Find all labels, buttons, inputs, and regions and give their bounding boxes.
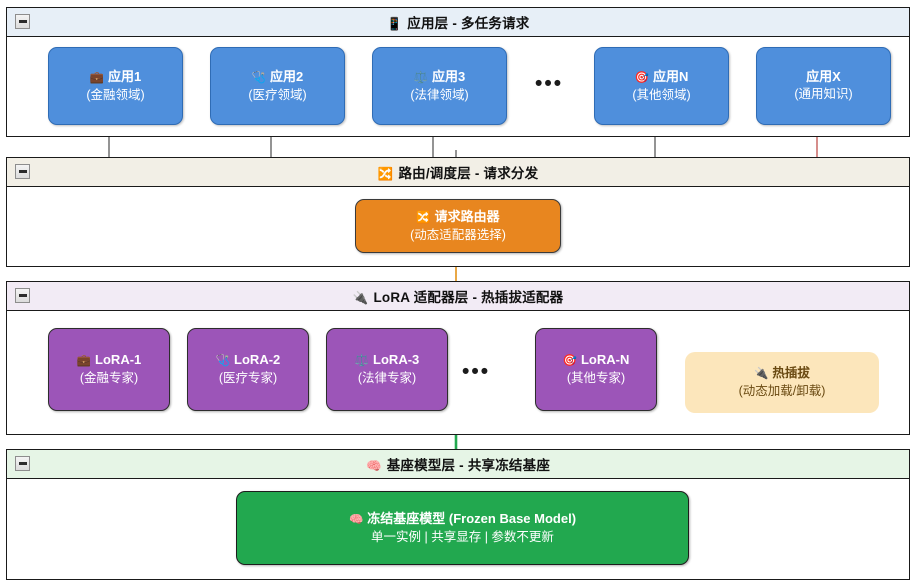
app-node-n-title: 🎯应用N bbox=[635, 68, 689, 87]
hot-plug-note: 🔌热插拔 (动态加载/卸载) bbox=[685, 352, 879, 413]
app-node-1-subtitle: (金融领域) bbox=[86, 87, 144, 104]
app-node-3[interactable]: ⚖️应用3 (法律领域) bbox=[372, 47, 507, 125]
request-router-node[interactable]: 🔀请求路由器 (动态适配器选择) bbox=[355, 199, 561, 253]
app-node-n[interactable]: 🎯应用N (其他领域) bbox=[594, 47, 729, 125]
lora-node-2-title: 🩺LoRA-2 bbox=[216, 351, 281, 370]
lora-node-2-subtitle: (医疗专家) bbox=[219, 370, 277, 387]
shuffle-icon: 🔀 bbox=[416, 212, 430, 224]
layer-application-title: 📱应用层 - 多任务请求 bbox=[387, 12, 530, 32]
frozen-base-model-subtitle: 单一实例 | 共享显存 | 参数不更新 bbox=[371, 529, 554, 546]
layer-lora-header: 🔌LoRA 适配器层 - 热插拔适配器 bbox=[7, 282, 909, 311]
layer-application-body: 💼应用1 (金融领域) 🩺应用2 (医疗领域) ⚖️应用3 (法律领域) ••• bbox=[7, 37, 909, 135]
plug-icon: 🔌 bbox=[353, 291, 369, 305]
hot-plug-note-title: 🔌热插拔 bbox=[754, 365, 810, 383]
collapse-toggle-routing[interactable] bbox=[15, 164, 30, 179]
plug-icon: 🔌 bbox=[754, 368, 768, 380]
lora-node-3-subtitle: (法律专家) bbox=[358, 370, 416, 387]
layer-lora-title: 🔌LoRA 适配器层 - 热插拔适配器 bbox=[353, 286, 564, 306]
lora-node-1-title: 💼LoRA-1 bbox=[77, 351, 142, 370]
app-node-3-subtitle: (法律领域) bbox=[410, 87, 468, 104]
target-icon: 🎯 bbox=[635, 72, 649, 84]
app-node-2-title: 🩺应用2 bbox=[252, 68, 304, 87]
collapse-toggle-application[interactable] bbox=[15, 14, 30, 29]
app-node-1-title: 💼应用1 bbox=[90, 68, 142, 87]
stethoscope-icon: 🩺 bbox=[216, 355, 230, 367]
lora-node-3-title: ⚖️LoRA-3 bbox=[355, 351, 420, 370]
app-node-2-subtitle: (医疗领域) bbox=[248, 87, 306, 104]
layer-routing: 🔀路由/调度层 - 请求分发 🔀请求路由器 (动态适配器选择) bbox=[6, 157, 910, 267]
layer-lora-body: 💼LoRA-1 (金融专家) 🩺LoRA-2 (医疗专家) ⚖️LoRA-3 (… bbox=[7, 311, 909, 433]
layer-base-model-title: 🧠基座模型层 - 共享冻结基座 bbox=[366, 454, 550, 474]
shuffle-icon: 🔀 bbox=[378, 167, 394, 181]
briefcase-icon: 💼 bbox=[77, 355, 91, 367]
lora-layer-ellipsis: ••• bbox=[462, 361, 490, 382]
target-icon: 🎯 bbox=[563, 355, 577, 367]
lora-node-3[interactable]: ⚖️LoRA-3 (法律专家) bbox=[326, 328, 448, 411]
brain-icon: 🧠 bbox=[366, 459, 382, 473]
layer-lora: 🔌LoRA 适配器层 - 热插拔适配器 💼LoRA-1 (金融专家) 🩺LoRA… bbox=[6, 281, 910, 435]
layer-base-model-body: 🧠冻结基座模型 (Frozen Base Model) 单一实例 | 共享显存 … bbox=[7, 479, 909, 578]
lora-node-n-title: 🎯LoRA-N bbox=[563, 351, 630, 370]
frozen-base-model-node[interactable]: 🧠冻结基座模型 (Frozen Base Model) 单一实例 | 共享显存 … bbox=[236, 491, 689, 565]
frozen-base-model-title: 🧠冻结基座模型 (Frozen Base Model) bbox=[349, 510, 576, 529]
app-node-x[interactable]: 应用X (通用知识) bbox=[756, 47, 891, 125]
scales-icon: ⚖️ bbox=[355, 355, 369, 367]
collapse-toggle-lora[interactable] bbox=[15, 288, 30, 303]
stethoscope-icon: 🩺 bbox=[252, 72, 266, 84]
collapse-toggle-base-model[interactable] bbox=[15, 456, 30, 471]
lora-node-n[interactable]: 🎯LoRA-N (其他专家) bbox=[535, 328, 657, 411]
layer-application-header: 📱应用层 - 多任务请求 bbox=[7, 8, 909, 37]
lora-node-1-subtitle: (金融专家) bbox=[80, 370, 138, 387]
lora-node-1[interactable]: 💼LoRA-1 (金融专家) bbox=[48, 328, 170, 411]
app-node-3-title: ⚖️应用3 bbox=[414, 68, 466, 87]
layer-application: 📱应用层 - 多任务请求 💼应用1 (金融领域) 🩺应用2 (医疗领域) ⚖️应… bbox=[6, 7, 910, 137]
app-node-2[interactable]: 🩺应用2 (医疗领域) bbox=[210, 47, 345, 125]
request-router-subtitle: (动态适配器选择) bbox=[410, 227, 506, 244]
layer-routing-body: 🔀请求路由器 (动态适配器选择) bbox=[7, 187, 909, 265]
layer-routing-header: 🔀路由/调度层 - 请求分发 bbox=[7, 158, 909, 187]
lora-node-n-subtitle: (其他专家) bbox=[567, 370, 625, 387]
app-node-x-title: 应用X bbox=[806, 68, 841, 86]
app-node-n-subtitle: (其他领域) bbox=[632, 87, 690, 104]
layer-routing-title: 🔀路由/调度层 - 请求分发 bbox=[378, 162, 539, 182]
layer-base-model: 🧠基座模型层 - 共享冻结基座 🧠冻结基座模型 (Frozen Base Mod… bbox=[6, 449, 910, 580]
layer-base-model-header: 🧠基座模型层 - 共享冻结基座 bbox=[7, 450, 909, 479]
hot-plug-note-subtitle: (动态加载/卸载) bbox=[739, 383, 826, 400]
brain-icon: 🧠 bbox=[349, 514, 363, 526]
request-router-title: 🔀请求路由器 bbox=[416, 208, 499, 227]
scales-icon: ⚖️ bbox=[414, 72, 428, 84]
app-node-1[interactable]: 💼应用1 (金融领域) bbox=[48, 47, 183, 125]
lora-node-2[interactable]: 🩺LoRA-2 (医疗专家) bbox=[187, 328, 309, 411]
diagram-canvas: 📱应用层 - 多任务请求 💼应用1 (金融领域) 🩺应用2 (医疗领域) ⚖️应… bbox=[0, 0, 916, 587]
mobile-phone-icon: 📱 bbox=[387, 17, 403, 31]
briefcase-icon: 💼 bbox=[90, 72, 104, 84]
app-layer-ellipsis: ••• bbox=[535, 73, 563, 94]
app-node-x-subtitle: (通用知识) bbox=[794, 86, 852, 103]
